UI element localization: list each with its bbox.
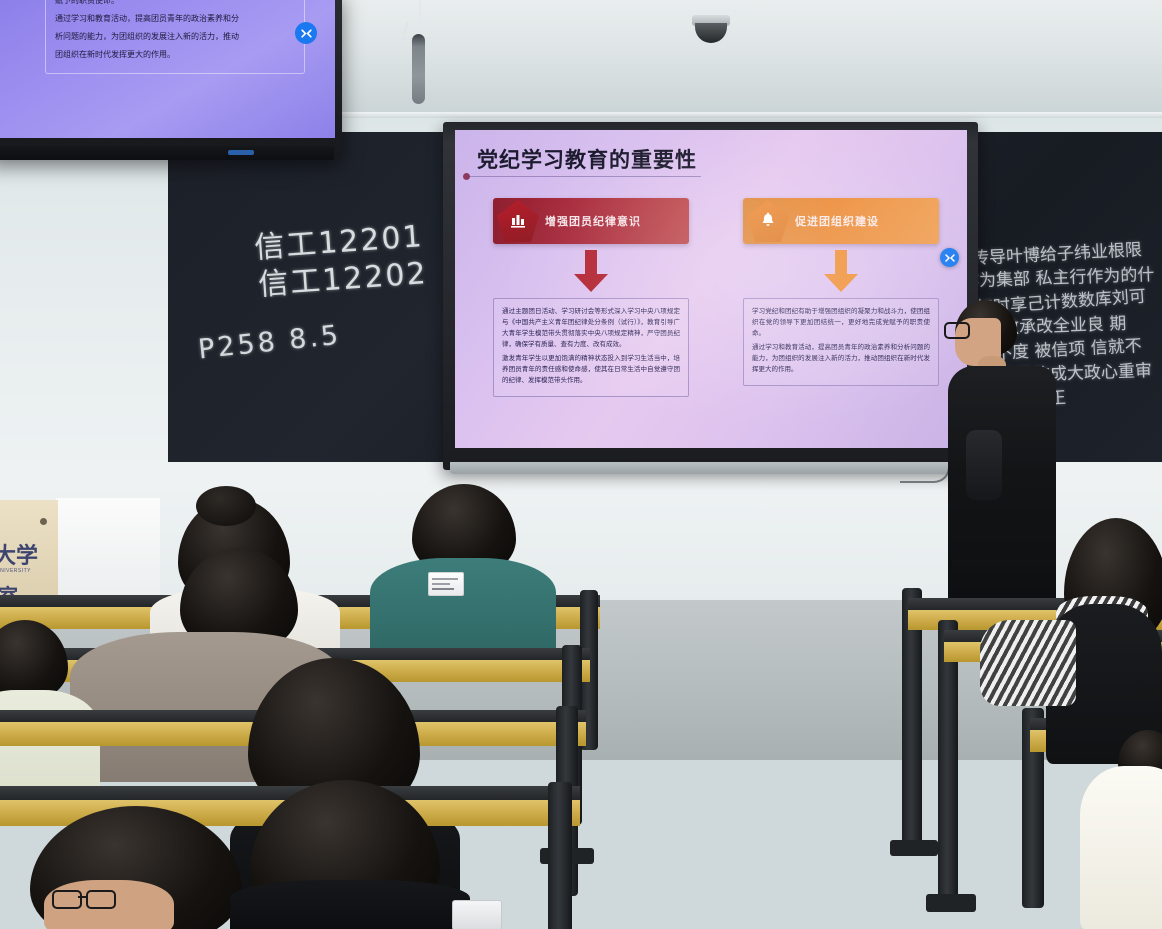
title-bullet-dot <box>463 173 470 180</box>
desk-foot <box>890 840 938 856</box>
slide-paragraph: 学习党纪和团纪有助于增强团组织的凝聚力和战斗力，使团组织在党的领导下更加团结统一… <box>752 306 930 339</box>
student-id-badge <box>428 572 464 596</box>
overhead-text-line: 析问题的能力，为团组织的发展注入新的活力，推动 <box>55 30 295 44</box>
student-shirt-white <box>1080 766 1162 929</box>
blue-circle-logo-icon[interactable] <box>940 248 959 267</box>
student-shirt-black <box>230 880 470 929</box>
overhead-monitor-frame-bottom <box>0 146 334 160</box>
blackboard-note-page: P258 8.5 <box>197 320 343 366</box>
overhead-monitor-screen[interactable]: 赋予的职责使命。 通过学习和教育活动，提高团员青年的政治素养和分 析问题的能力，… <box>0 0 335 138</box>
desk-post <box>938 620 958 910</box>
slide-paragraph: 通过学习和教育活动，提高团员青年的政治素养和分析问题的能力，为团组织的发展注入新… <box>752 342 930 375</box>
presenter-shirt-graphic <box>966 430 1002 500</box>
pentagon-chart-icon <box>497 200 539 242</box>
drink-cup <box>452 900 502 929</box>
slide-paragraph: 激发青年学生以更加饱满的精神状态投入到学习生活当中，培养团员青年的责任感和使命感… <box>502 353 680 386</box>
desk-foot <box>926 894 976 912</box>
display-stand <box>450 462 970 474</box>
slide-title: 党纪学习教育的重要性 <box>477 144 697 174</box>
card-label-organization: 促进团组织建设 <box>795 213 879 229</box>
overhead-text-line: 团组织在新时代发挥更大的作用。 <box>55 48 295 62</box>
overhead-monitor-brand-logo <box>228 150 254 155</box>
slide-column-left: 增强团员纪律意识 通过主题团日活动、学习研讨会等形式深入学习中央八项规定与《中国… <box>493 198 689 397</box>
card-header-discipline: 增强团员纪律意识 <box>493 198 689 244</box>
hanging-microphone-icon <box>412 34 425 104</box>
desk-post <box>548 782 572 929</box>
podium-sign-subtext: UNIVERSITY <box>0 568 31 574</box>
pentagon-bell-icon <box>747 200 789 242</box>
podium-body <box>56 498 160 600</box>
title-divider <box>465 176 701 177</box>
slide-column-right: 促进团组织建设 学习党纪和团纪有助于增强团组织的凝聚力和战斗力，使团组织在党的领… <box>743 198 939 386</box>
blue-circle-logo-icon[interactable] <box>295 22 317 44</box>
student-sleeve-striped <box>980 620 1076 706</box>
down-arrow-icon <box>569 250 613 294</box>
card-label-discipline: 增强团员纪律意识 <box>545 213 641 229</box>
overhead-monitor-textbox: 赋予的职责使命。 通过学习和教育活动，提高团员青年的政治素养和分 析问题的能力，… <box>45 0 305 74</box>
slide-paragraph: 通过主题团日活动、学习研讨会等形式深入学习中央八项规定与《中国共产主义青年团纪律… <box>502 306 680 350</box>
card-header-organization: 促进团组织建设 <box>743 198 939 244</box>
display-cable <box>900 455 950 483</box>
down-arrow-icon <box>819 250 863 294</box>
overhead-text-line: 赋予的职责使命。 <box>55 0 295 8</box>
presentation-screen[interactable]: 党纪学习教育的重要性 增强团员纪律意识 通过主题团日活 <box>455 130 967 448</box>
slide-textbox-right: 学习党纪和团纪有助于增强团组织的凝聚力和战斗力，使团组织在党的领导下更加团结统一… <box>743 298 939 386</box>
podium-screw-icon <box>40 518 47 525</box>
slide-textbox-left: 通过主题团日活动、学习研讨会等形式深入学习中央八项规定与《中国共产主义青年团纪律… <box>493 298 689 397</box>
classroom-photo-scene: 信工12201 信工12202 P258 8.5 传导叶博给子纬业根限 作为集部… <box>0 0 1162 929</box>
overhead-text-line: 通过学习和教育活动，提高团员青年的政治素养和分 <box>55 12 295 26</box>
student-hair-bun <box>196 486 256 526</box>
podium-sign-char-1: 大学 <box>0 538 38 570</box>
podium-wood-sign: 大学 UNIVERSITY 室 <box>0 500 58 600</box>
